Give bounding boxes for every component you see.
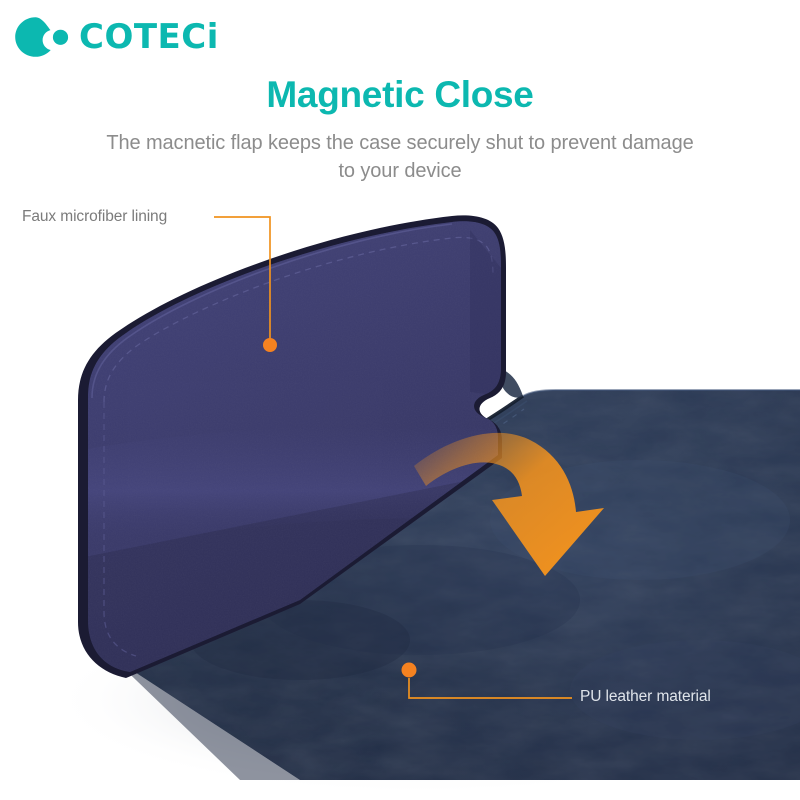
product-feature-card: COTECi Magnetic Close The macnetic flap … (0, 0, 800, 800)
product-illustration (0, 0, 800, 800)
callout-label-faux-microfiber-lining: Faux microfiber lining (22, 208, 167, 226)
callout-label-pu-leather-material: PU leather material (580, 688, 711, 706)
